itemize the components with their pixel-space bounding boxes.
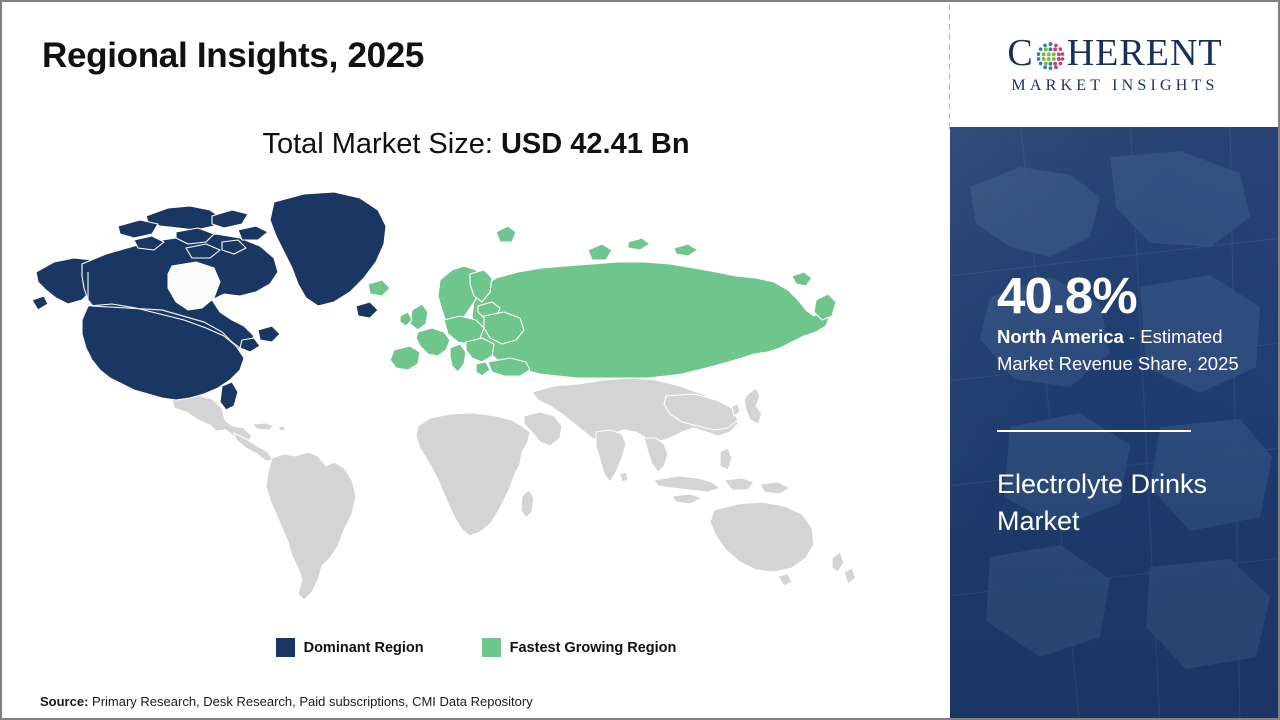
- globe-dots-icon: [1035, 40, 1066, 71]
- map-region-other: [172, 378, 856, 600]
- right-panel: C: [950, 2, 1280, 718]
- world-map-svg: [26, 180, 906, 620]
- main-content-area: Regional Insights, 2025 Total Market Siz…: [2, 2, 950, 718]
- source-note: Source: Primary Research, Desk Research,…: [40, 694, 533, 709]
- dominant-region-swatch: [276, 638, 295, 657]
- legend-item-dominant: Dominant Region: [276, 638, 424, 657]
- source-text: Primary Research, Desk Research, Paid su…: [88, 694, 532, 709]
- legend-item-fastest-growing: Fastest Growing Region: [482, 638, 677, 657]
- legend-label-fastest-growing: Fastest Growing Region: [510, 640, 677, 656]
- panel-body: 40.8% North America - Estimated Market R…: [950, 127, 1280, 718]
- company-logo: C: [950, 2, 1280, 127]
- map-region-fastest-growing: [368, 226, 836, 378]
- stat-description: North America - Estimated Market Revenue…: [997, 324, 1265, 378]
- stat-value: 40.8%: [997, 270, 1137, 321]
- slide-root: Regional Insights, 2025 Total Market Siz…: [0, 0, 1280, 720]
- panel-divider-rule: [997, 430, 1191, 432]
- logo-word-before: C: [1007, 34, 1033, 72]
- source-label: Source:: [40, 694, 88, 709]
- logo-subtitle: MARKET INSIGHTS: [1011, 77, 1218, 95]
- stat-region-name: North America: [997, 326, 1124, 347]
- fastest-growing-region-swatch: [482, 638, 501, 657]
- page-title: Regional Insights, 2025: [42, 36, 424, 76]
- total-market-size-value: USD 42.41 Bn: [501, 128, 690, 160]
- panel-content: 40.8% North America - Estimated Market R…: [997, 127, 1269, 718]
- total-market-size-label: Total Market Size:: [262, 128, 501, 160]
- market-name: Electrolyte Drinks Market: [997, 466, 1259, 541]
- logo-word-after: HERENT: [1067, 34, 1223, 72]
- logo-wordmark: C: [1007, 34, 1222, 72]
- map-legend: Dominant Region Fastest Growing Region: [2, 638, 950, 657]
- total-market-size: Total Market Size: USD 42.41 Bn: [2, 128, 950, 161]
- legend-label-dominant: Dominant Region: [304, 640, 424, 656]
- world-map: [26, 180, 906, 620]
